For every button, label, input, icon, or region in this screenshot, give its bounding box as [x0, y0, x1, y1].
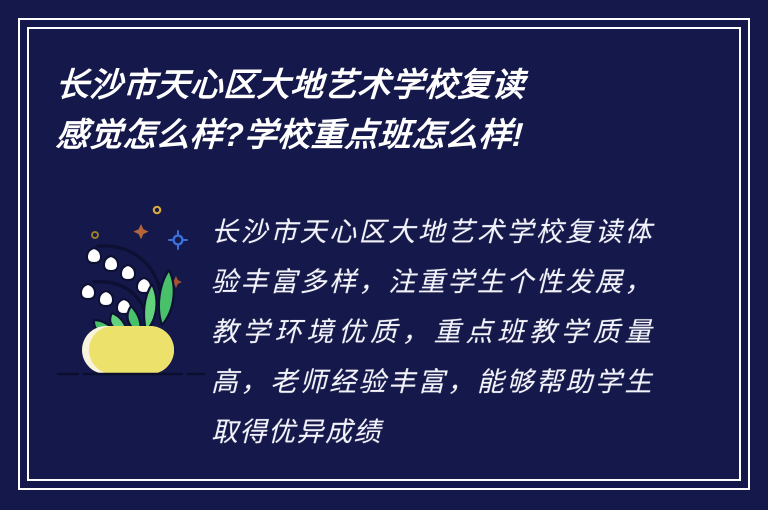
bell-flower: [99, 291, 113, 306]
leaf-tall-right: [159, 270, 174, 325]
gold-dot-sparkle: [154, 207, 160, 213]
article-card: 长沙市天心区大地艺术学校复读 感觉怎么样?学校重点班怎么样!: [0, 0, 768, 510]
bell-flower: [121, 265, 135, 280]
flower-pot: [82, 326, 174, 374]
body-copy: 长沙市天心区大地艺术学校复读体验丰富多样，注重学生个性发展，教学环境优质，重点班…: [211, 208, 653, 458]
lily-of-the-valley-illustration: [56, 198, 206, 378]
bell-flower: [87, 248, 101, 263]
bell-flower: [81, 284, 95, 299]
pot-body: [89, 326, 174, 374]
title-line-2: 感觉怎么样?学校重点班怎么样!: [55, 110, 698, 160]
amber-ring-sparkle: [92, 232, 98, 238]
blue-burst-sparkle: [169, 231, 187, 249]
bell-flower: [104, 256, 118, 271]
page-title: 长沙市天心区大地艺术学校复读 感觉怎么样?学校重点班怎么样!: [56, 60, 696, 160]
body-text: 长沙市天心区大地艺术学校复读体验丰富多样，注重学生个性发展，教学环境优质，重点班…: [211, 208, 653, 458]
orange-star-sparkle: [133, 224, 148, 239]
title-line-1: 长沙市天心区大地艺术学校复读: [55, 60, 698, 110]
